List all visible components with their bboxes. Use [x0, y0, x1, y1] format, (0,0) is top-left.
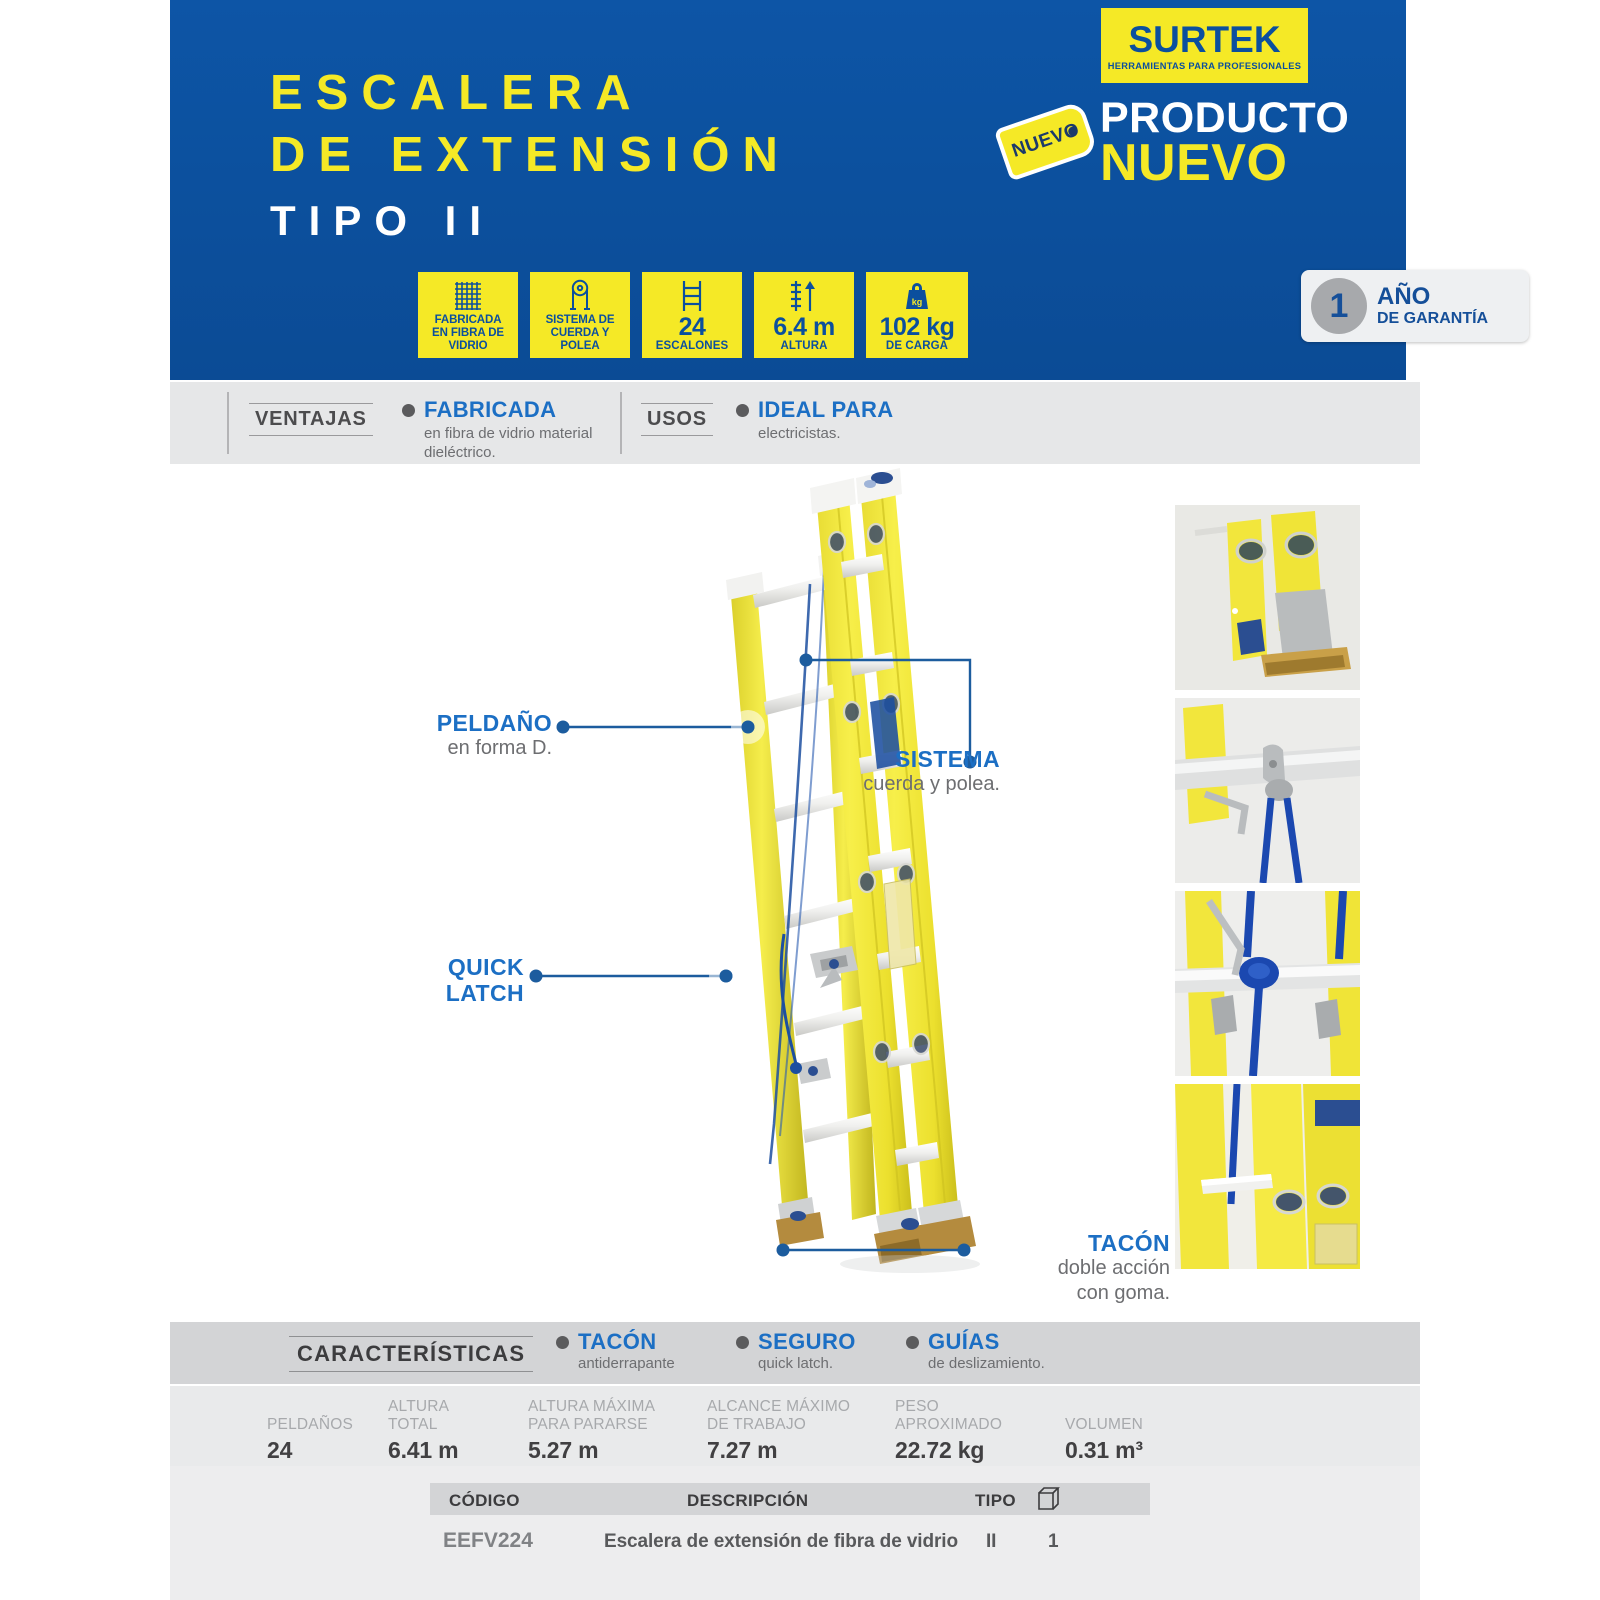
- producto-nuevo-badge: NUEVO PRODUCTO NUEVO: [1000, 96, 1340, 188]
- callout-quick-latch-line-1: QUICK: [280, 954, 524, 980]
- characteristics-band: CARACTERÍSTICAS TACÓN antiderrapante SEG…: [170, 1322, 1420, 1384]
- ladder-icon: [678, 278, 706, 314]
- height-arrow-icon: [789, 278, 819, 314]
- callout-peldano: PELDAÑO en forma D.: [280, 710, 552, 761]
- spec-badge-steps: 24 ESCALONES: [642, 272, 742, 358]
- spec-badge-load-label: DE CARGA: [886, 340, 948, 353]
- spec-badge-height-label: ALTURA: [780, 340, 827, 353]
- header-banner: ESCALERA DE EXTENSIÓN TIPO II Surtek HER…: [170, 0, 1406, 380]
- spec-volumen-label-2: VOLUMEN: [1065, 1416, 1143, 1434]
- spec-peldanos-label-2: PELDAÑOS: [267, 1416, 353, 1434]
- advantages-heading: FABRICADA: [424, 397, 602, 422]
- callout-sistema-body: cuerda y polea.: [810, 772, 1000, 797]
- spec-altura-maxima-value: 5.27 m: [528, 1436, 655, 1464]
- spec-alcance-maximo: ALCANCE MÁXIMO DE TRABAJO 7.27 m: [707, 1398, 850, 1464]
- code-table-header-codigo: CÓDIGO: [449, 1491, 520, 1511]
- spec-peso-label-1: PESO: [895, 1398, 1002, 1416]
- brand-tagline: HERRAMIENTAS PARA PROFESIONALES: [1108, 61, 1302, 71]
- spec-peldanos: PELDAÑOS 24: [267, 1398, 353, 1464]
- uses-body: electricistas.: [758, 424, 893, 443]
- callout-tacon: TACÓN doble acción con goma.: [990, 1230, 1170, 1306]
- divider: [227, 392, 229, 454]
- advantages-value: FABRICADA en fibra de vidrio material di…: [402, 397, 602, 462]
- spec-peldanos-value: 24: [267, 1436, 353, 1464]
- spec-badge-load-value: 102 kg: [880, 314, 955, 340]
- spec-alcance-maximo-label-2: DE TRABAJO: [707, 1416, 850, 1434]
- spec-altura-total-label-2: TOTAL: [388, 1416, 458, 1434]
- spec-altura-total: ALTURA TOTAL 6.41 m: [388, 1398, 458, 1464]
- divider: [620, 392, 622, 454]
- code-table-header-descripcion: DESCRIPCIÓN: [687, 1491, 808, 1511]
- spec-altura-maxima: ALTURA MÁXIMA PARA PARARSE 5.27 m: [528, 1398, 655, 1464]
- spec-volumen: VOLUMEN 0.31 m³: [1065, 1398, 1143, 1464]
- spec-peso: PESO APROXIMADO 22.72 kg: [895, 1398, 1002, 1464]
- spec-altura-maxima-label-2: PARA PARARSE: [528, 1416, 655, 1434]
- spec-table: PELDAÑOS 24 ALTURA TOTAL 6.41 m ALTURA M…: [170, 1386, 1420, 1466]
- spec-badge-height: 6.4 m ALTURA: [754, 272, 854, 358]
- callout-peldano-heading: PELDAÑO: [280, 710, 552, 736]
- callout-tacon-line-2: con goma.: [990, 1281, 1170, 1306]
- page-title: ESCALERA DE EXTENSIÓN: [270, 62, 791, 186]
- spec-badge-load: kg 102 kg DE CARGA: [866, 272, 968, 358]
- bullet-dot-icon: [906, 1336, 919, 1349]
- characteristic-seguro: SEGURO quick latch.: [736, 1329, 856, 1373]
- box-icon: [1036, 1486, 1060, 1517]
- warranty-badge: 1 AÑO DE GARANTÍA: [1301, 270, 1529, 342]
- fiberglass-weave-icon: [453, 278, 483, 314]
- spec-peso-label-2: APROXIMADO: [895, 1416, 1002, 1434]
- characteristic-tacon-heading: TACÓN: [578, 1329, 675, 1354]
- code-table-value-tipo: II: [986, 1531, 996, 1553]
- callout-quick-latch-line-2: LATCH: [280, 980, 524, 1006]
- callout-sistema: SISTEMA cuerda y polea.: [810, 746, 1000, 797]
- code-table: CÓDIGO DESCRIPCIÓN TIPO EEFV224 Escalera…: [170, 1466, 1420, 1600]
- characteristic-seguro-heading: SEGURO: [758, 1329, 856, 1354]
- callout-tacon-line-1: doble acción: [990, 1256, 1170, 1281]
- callout-quick-latch: QUICK LATCH: [280, 954, 524, 1006]
- spec-badge-fiberglass: FABRICADA EN FIBRA DE VIDRIO: [418, 272, 518, 358]
- characteristic-guias-heading: GUÍAS: [928, 1329, 1045, 1354]
- thumbnail-rail-guide-detail: [1175, 1084, 1360, 1269]
- spec-altura-maxima-label-1: ALTURA MÁXIMA: [528, 1398, 655, 1416]
- spec-badge-steps-value: 24: [679, 314, 706, 340]
- detail-photo-strip: [1175, 505, 1360, 1277]
- thumbnail-pulley-rope-detail: [1175, 698, 1360, 883]
- code-table-value-codigo: EEFV224: [443, 1529, 533, 1553]
- spec-peso-value: 22.72 kg: [895, 1436, 1002, 1464]
- spec-badge-height-value: 6.4 m: [773, 314, 834, 340]
- product-datasheet: ESCALERA DE EXTENSIÓN TIPO II Surtek HER…: [0, 0, 1600, 1600]
- bullet-dot-icon: [556, 1336, 569, 1349]
- thumbnail-rope-knot-rung-detail: [1175, 891, 1360, 1076]
- badge-line-2: NUEVO: [1100, 137, 1287, 190]
- title-line-1: ESCALERA: [270, 66, 644, 120]
- characteristics-key: CARACTERÍSTICAS: [289, 1336, 533, 1372]
- callout-tacon-heading: TACÓN: [990, 1230, 1170, 1256]
- spec-badge-pulley-label: SISTEMA DE CUERDA Y POLEA: [546, 314, 615, 353]
- code-table-value-descripcion: Escalera de extensión de fibra de vidrio: [604, 1531, 958, 1553]
- advantages-key: VENTAJAS: [249, 403, 373, 436]
- characteristic-seguro-body: quick latch.: [758, 1355, 856, 1373]
- brand-name: Surtek: [1128, 21, 1280, 59]
- code-table-value-cantidad: 1: [1048, 1531, 1058, 1553]
- characteristic-tacon: TACÓN antiderrapante: [556, 1329, 675, 1373]
- warranty-line-2: DE GARANTÍA: [1377, 309, 1488, 328]
- characteristic-tacon-body: antiderrapante: [578, 1355, 675, 1373]
- warranty-line-1: AÑO: [1377, 284, 1488, 309]
- bullet-dot-icon: [736, 404, 749, 417]
- price-tag-icon: NUEVO: [994, 100, 1099, 181]
- surtek-logo: Surtek HERRAMIENTAS PARA PROFESIONALES: [1101, 8, 1308, 83]
- rope-pulley-icon: [565, 278, 595, 314]
- uses-key: USOS: [641, 403, 713, 436]
- warranty-circle-icon: 1: [1311, 278, 1367, 334]
- warranty-number: 1: [1330, 289, 1349, 323]
- spec-altura-total-label-1: ALTURA: [388, 1398, 458, 1416]
- bullet-dot-icon: [402, 404, 415, 417]
- spec-alcance-maximo-label-1: ALCANCE MÁXIMO: [707, 1398, 850, 1416]
- spec-badge-pulley: SISTEMA DE CUERDA Y POLEA: [530, 272, 630, 358]
- characteristic-guias: GUÍAS de deslizamiento.: [906, 1329, 1045, 1373]
- callout-peldano-body: en forma D.: [280, 736, 552, 761]
- spec-alcance-maximo-value: 7.27 m: [707, 1436, 850, 1464]
- advantages-band: VENTAJAS FABRICADA en fibra de vidrio ma…: [170, 382, 1420, 464]
- spec-volumen-label-1: [1065, 1398, 1143, 1416]
- callout-sistema-heading: SISTEMA: [810, 746, 1000, 772]
- spec-volumen-value: 0.31 m³: [1065, 1436, 1143, 1464]
- spec-peldanos-label-1: [267, 1398, 353, 1416]
- uses-group: USOS: [641, 403, 713, 436]
- svg-text:kg: kg: [912, 297, 923, 307]
- page-subtitle: TIPO II: [270, 196, 494, 246]
- uses-value: IDEAL PARA electricistas.: [736, 397, 936, 443]
- advantages-group: VENTAJAS: [249, 403, 373, 436]
- spec-badge-steps-label: ESCALONES: [656, 340, 728, 353]
- advantages-body: en fibra de vidrio material dieléctrico.: [424, 424, 602, 462]
- spec-badge-fiberglass-label: FABRICADA EN FIBRA DE VIDRIO: [432, 314, 504, 353]
- bullet-dot-icon: [736, 1336, 749, 1349]
- title-line-2: DE EXTENSIÓN: [270, 124, 791, 186]
- weight-kg-icon: kg: [902, 278, 932, 314]
- characteristic-guias-body: de deslizamiento.: [928, 1355, 1045, 1373]
- spec-badge-row: FABRICADA EN FIBRA DE VIDRIO: [418, 272, 968, 358]
- code-table-header-tipo: TIPO: [975, 1491, 1016, 1511]
- thumbnail-ladder-foot-detail: [1175, 505, 1360, 690]
- spec-altura-total-value: 6.41 m: [388, 1436, 458, 1464]
- uses-heading: IDEAL PARA: [758, 397, 893, 422]
